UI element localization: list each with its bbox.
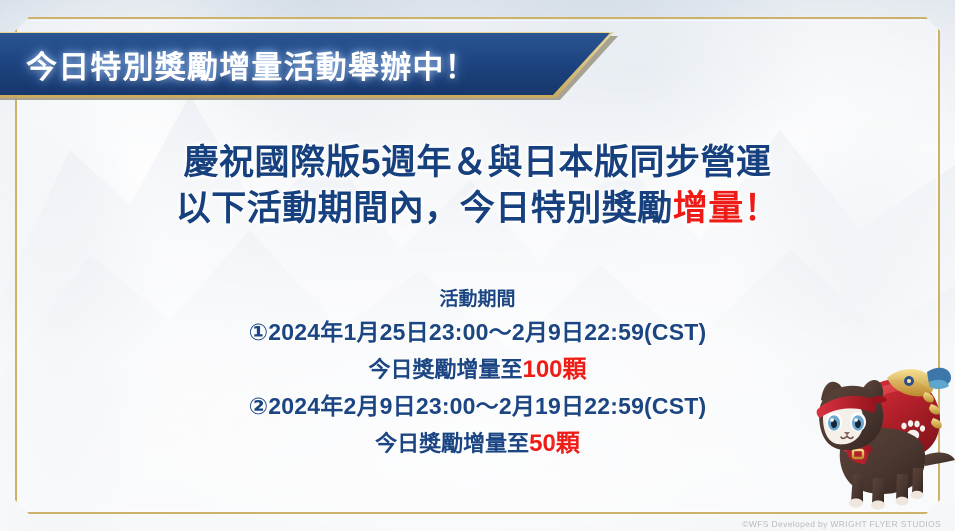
- cat-with-backpack-mascot: [805, 352, 955, 522]
- period-1-amount-prefix: 今日獎勵增量至: [368, 357, 522, 382]
- headline-block: 慶祝國際版5週年＆與日本版同步營運 以下活動期間內，今日特別獎勵增量！: [0, 140, 955, 232]
- period-2-amount-number: 50: [529, 430, 556, 457]
- period-2-amount-prefix: 今日獎勵增量至: [375, 431, 529, 456]
- period-2-amount-suffix: 顆: [556, 430, 580, 457]
- mascot-tail: [923, 453, 955, 466]
- announcement-screen: 今日特別獎勵增量活動舉辦中！ 慶祝國際版5週年＆與日本版同步營運 以下活動期間內…: [0, 0, 955, 531]
- headline-line-1: 慶祝國際版5週年＆與日本版同步營運: [0, 140, 955, 186]
- headline-line-2-navy: 以下活動期間內，今日特別獎勵: [176, 189, 673, 228]
- headline-line-2: 以下活動期間內，今日特別獎勵增量！: [0, 186, 955, 232]
- headline-line-2-red: 增量！: [673, 189, 780, 228]
- banner-ribbon-body: 今日特別獎勵增量活動舉辦中！: [0, 33, 610, 95]
- period-1-range: ①2024年1月25日23:00～2月9日22:59(CST): [0, 314, 955, 351]
- banner-title: 今日特別獎勵增量活動舉辦中！: [26, 42, 477, 87]
- copyright-text: ©WFS Developed by WRIGHT FLYER STUDIOS: [742, 519, 941, 529]
- banner-ribbon: 今日特別獎勵增量活動舉辦中！: [0, 32, 618, 98]
- period-1-amount-number: 100: [522, 356, 562, 383]
- details-heading: 活動期間: [0, 286, 955, 314]
- period-1-amount-suffix: 顆: [563, 356, 587, 383]
